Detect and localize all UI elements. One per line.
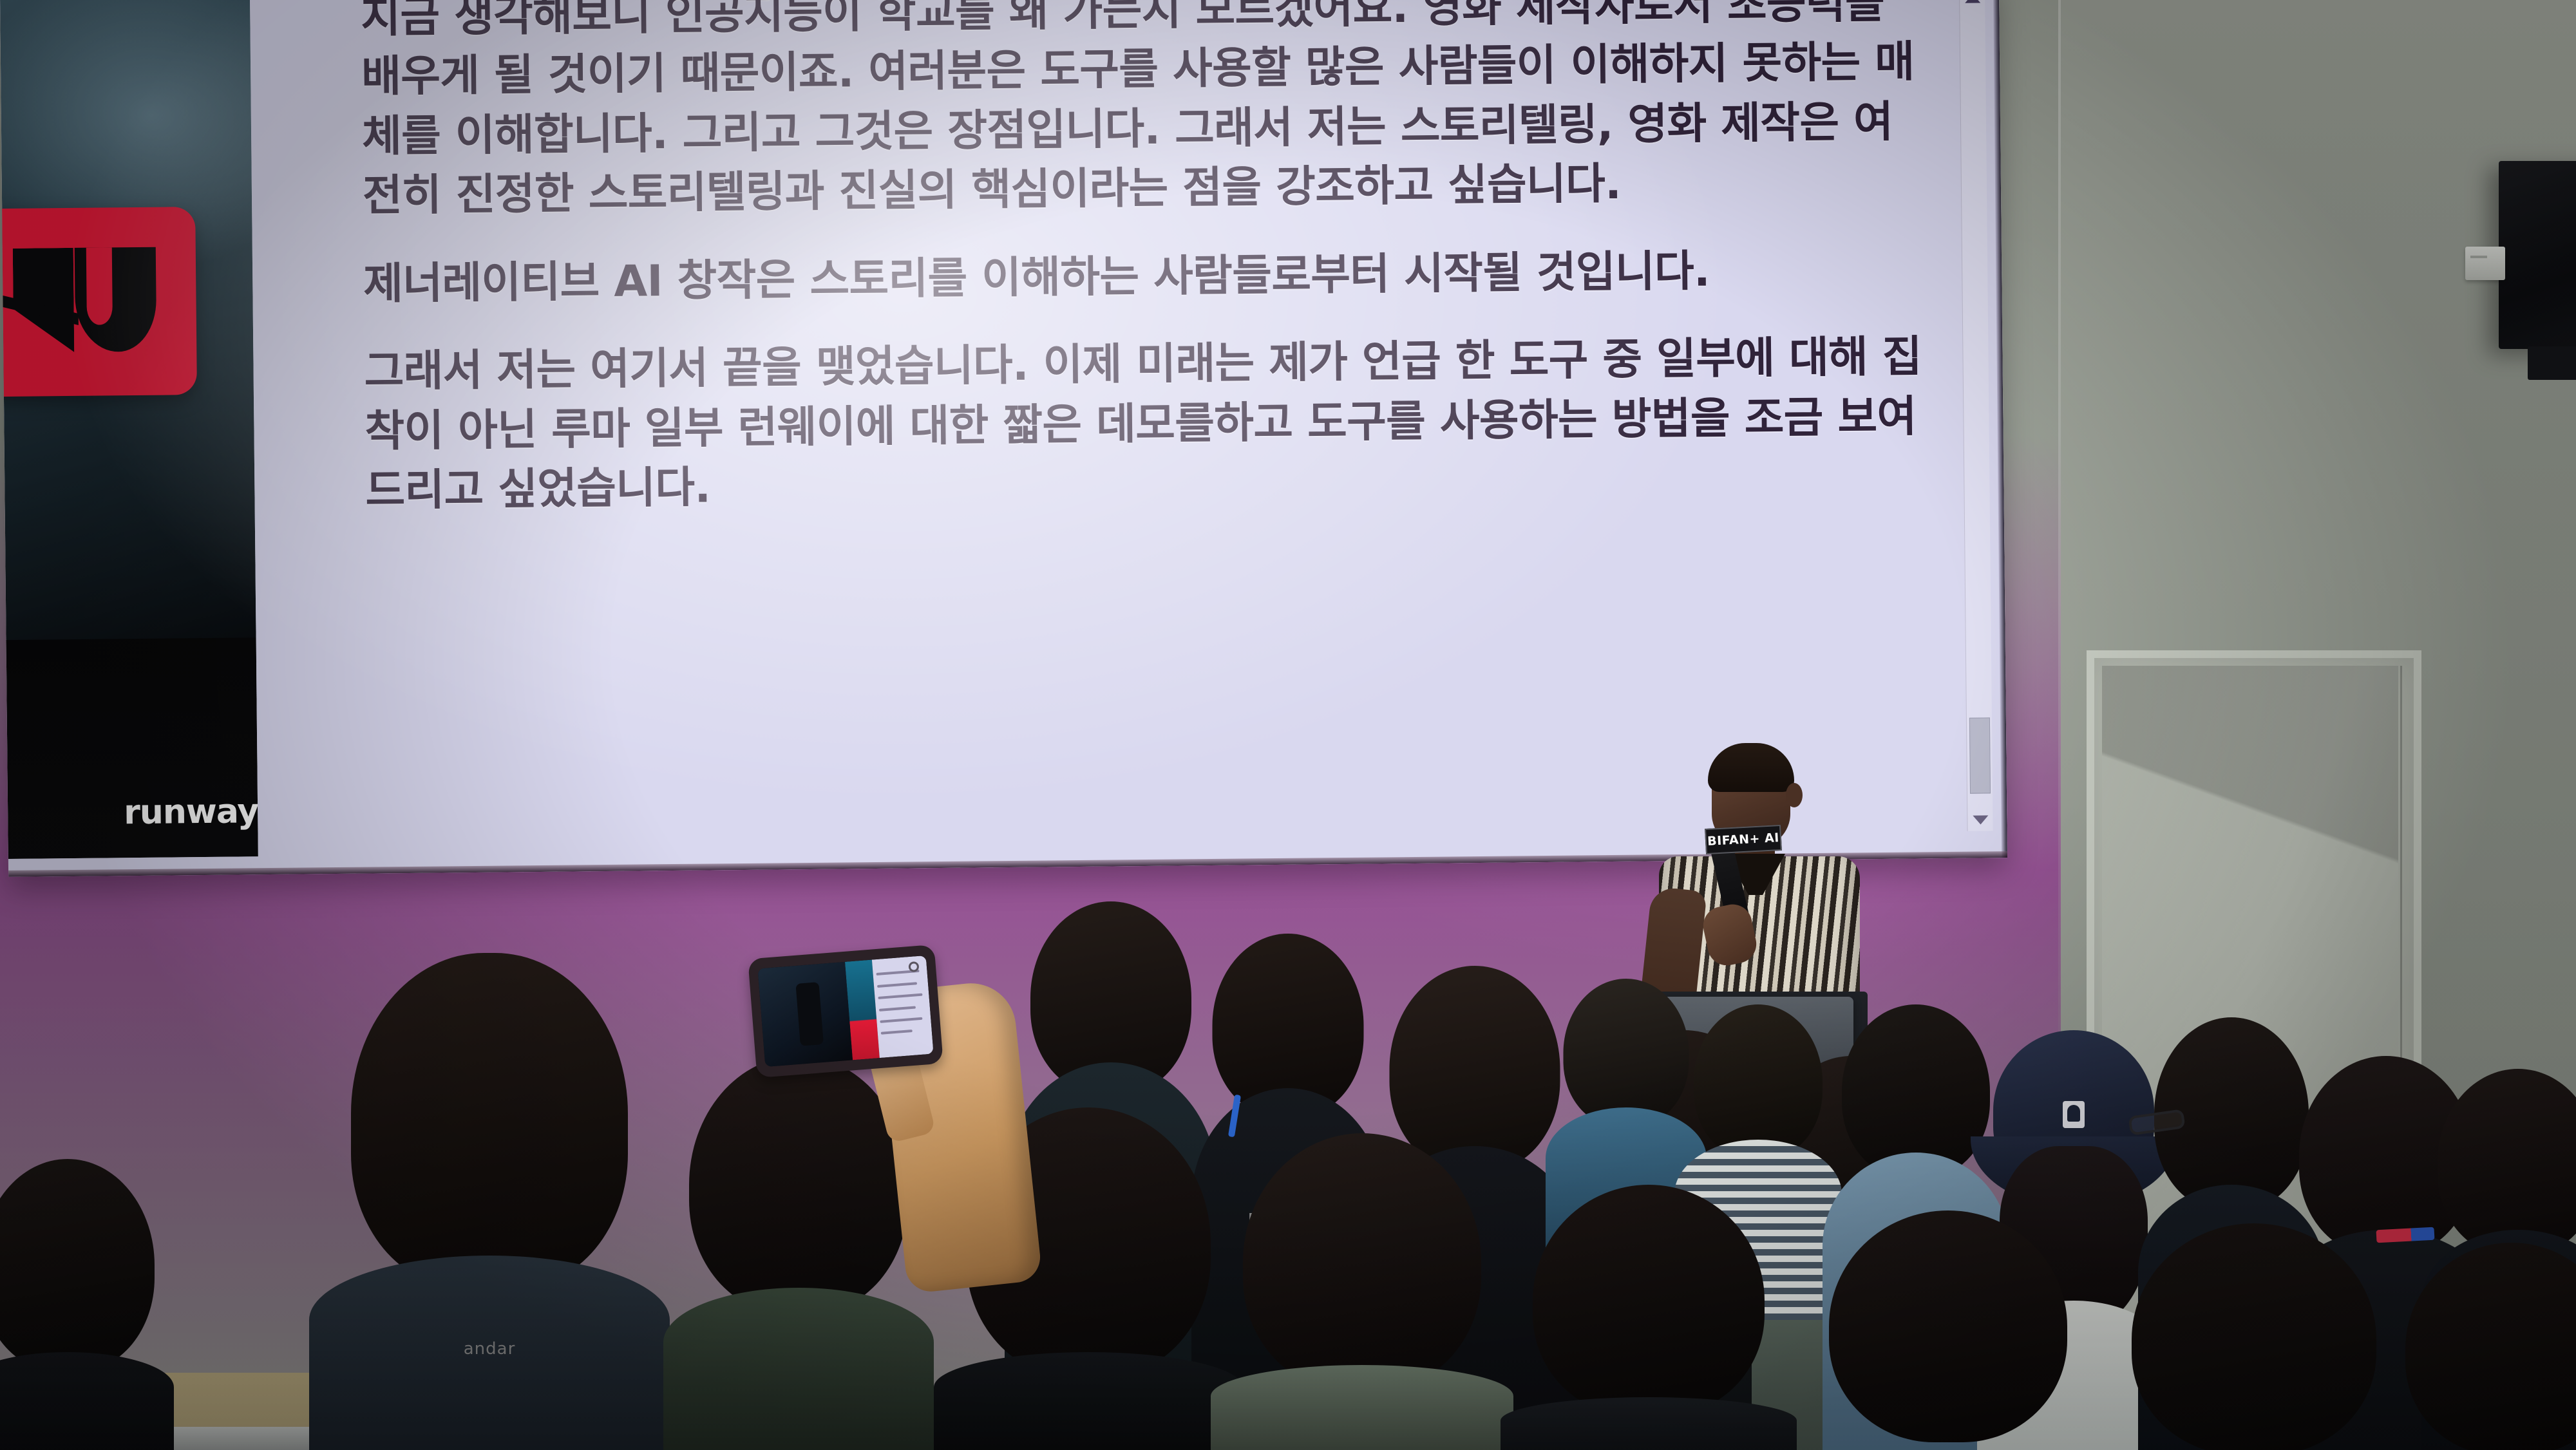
screenshot-root: VIEW runway™ 지금 생각해보니 인공지능이 학교를 왜 가는지 모르… (0, 0, 2576, 1450)
body (663, 1288, 934, 1450)
head (1243, 1133, 1481, 1391)
head (2438, 1069, 2576, 1256)
body (0, 1352, 174, 1450)
runway-brand-panel: runway™ (0, 0, 258, 859)
audience-member (1797, 1210, 2099, 1450)
scroll-down-arrow-icon[interactable] (1973, 815, 1988, 824)
body (1211, 1365, 1513, 1450)
runway-wordmark-text: runway (124, 792, 258, 832)
speaker-hair (1708, 743, 1794, 792)
slide-paragraph-1: 지금 생각해보니 인공지능이 학교를 왜 가는지 모르겠어요. 영화 제작자로서… (361, 0, 1921, 225)
slide-paragraph-2: 제너레이티브 AI 창작은 스토리를 이해하는 사람들로부터 시작될 것입니다. (363, 239, 1922, 314)
head (1533, 1185, 1765, 1417)
audience-member (0, 1159, 174, 1450)
body (1501, 1397, 1797, 1450)
mlb-logo-icon (2063, 1101, 2085, 1128)
monitor-bracket (2465, 247, 2505, 280)
slide-scrollbar[interactable] (1959, 0, 1993, 831)
head (0, 1159, 155, 1371)
audience-member (2099, 1223, 2409, 1450)
runway-logo-glyph-u-notch (86, 247, 113, 325)
body (934, 1352, 1243, 1450)
head (689, 1056, 908, 1313)
slide-paragraph-3: 그래서 저는 여기서 끝을 맺었습니다. 이제 미래는 제가 언급 한 도구 중… (364, 327, 1924, 521)
door-shadow (2102, 666, 2398, 1019)
audience-member: andar (309, 953, 670, 1450)
microphone-flag: BIFAN+ AI (1705, 825, 1782, 854)
audience-member (1211, 1133, 1513, 1450)
runway-wordmark: runway™ (124, 792, 258, 832)
audience-member (1501, 1185, 1797, 1450)
scrollbar-thumb[interactable] (1969, 717, 1991, 793)
head (1564, 979, 1689, 1127)
smartphone[interactable] (748, 945, 943, 1078)
monitor-mount-box (2528, 346, 2576, 380)
speaker-ear (1786, 783, 1803, 807)
runway-logo-icon (0, 207, 197, 397)
audience-member (2383, 1243, 2576, 1450)
wall-monitor: VIEW (2499, 161, 2576, 349)
shirt-label: andar (464, 1339, 516, 1359)
phone-screen[interactable] (757, 956, 933, 1067)
head (1694, 1004, 1823, 1159)
slide-body-text: 지금 생각해보니 인공지능이 학교를 왜 가는지 모르겠어요. 영화 제작자로서… (361, 0, 1924, 520)
phone-screen-slide-region (872, 956, 934, 1058)
scroll-up-arrow-icon[interactable] (1965, 0, 1980, 3)
head (2132, 1223, 2376, 1450)
head (351, 953, 628, 1288)
microphone-flag-label: BIFAN+ AI (1707, 831, 1780, 849)
phone-screen-left-region (757, 962, 853, 1067)
head (1829, 1210, 2067, 1442)
head (2405, 1243, 2576, 1450)
